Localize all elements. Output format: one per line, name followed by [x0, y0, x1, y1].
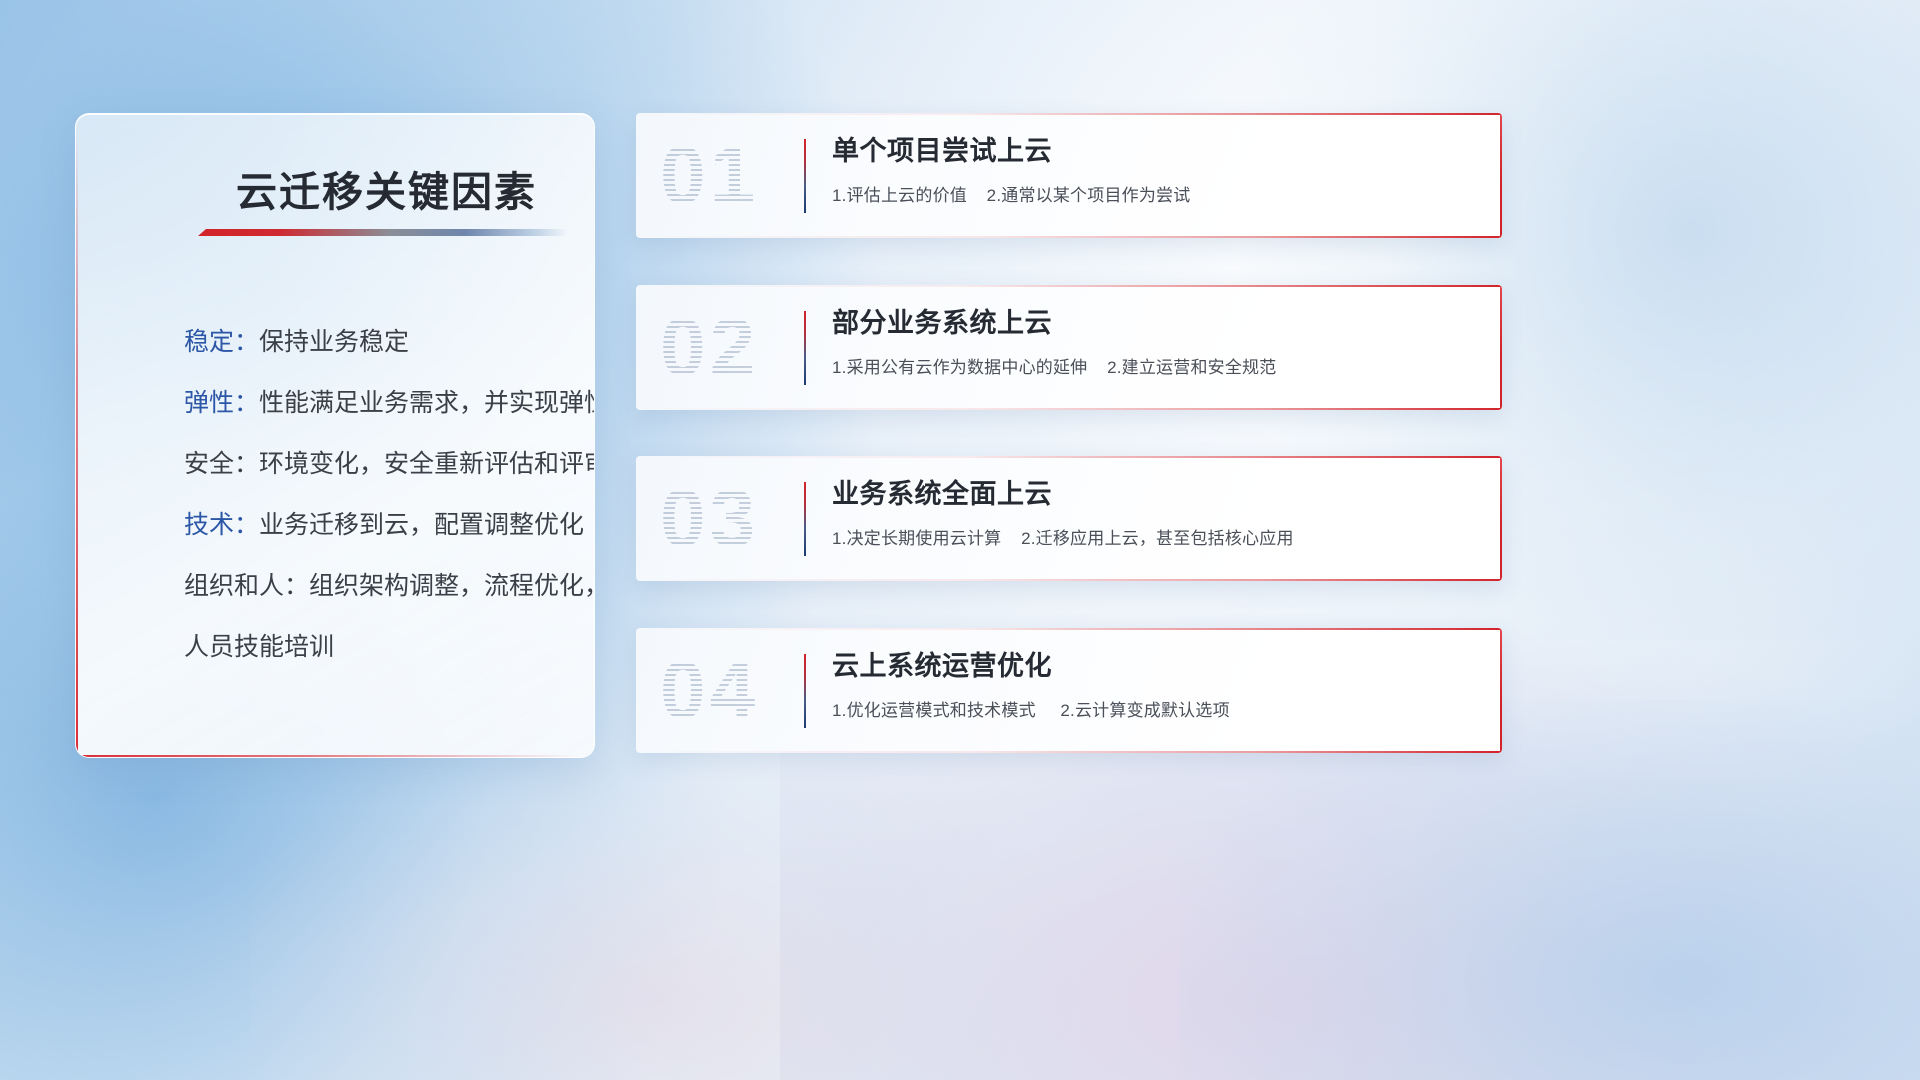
card-bottom-accent-line: [636, 751, 1502, 753]
factor-desc: 性能满足业务需求，并实现弹性: [259, 389, 595, 417]
card-top-accent-line: [636, 456, 1502, 458]
card-bottom-accent-line: [636, 408, 1502, 410]
step-title: 业务系统全面上云: [832, 479, 1478, 510]
factor-desc: 环境变化，安全重新评估和评审: [259, 450, 595, 478]
list-item: 稳定：保持业务稳定: [184, 312, 566, 373]
factor-desc: 人员技能培训: [184, 633, 334, 661]
step-card-04[interactable]: 04 云上系统运营优化 1.优化运营模式和技术模式 2.云计算变成默认选项: [636, 628, 1502, 753]
factor-desc: 业务迁移到云，配置调整优化: [259, 511, 584, 539]
step-content: 部分业务系统上云 1.采用公有云作为数据中心的延伸 2.建立运营和安全规范: [832, 308, 1478, 378]
step-subtitle: 1.采用公有云作为数据中心的延伸 2.建立运营和安全规范: [832, 353, 1478, 378]
background-glow-pink-bottom: [250, 760, 1070, 1080]
factor-label: 稳定：: [184, 328, 259, 356]
list-item: 弹性：性能满足业务需求，并实现弹性: [184, 373, 566, 434]
panel-title: 云迁移关键因素: [236, 158, 537, 218]
card-top-accent-line: [636, 285, 1502, 287]
step-title: 部分业务系统上云: [832, 308, 1478, 339]
list-item: 组织和人：组织架构调整，流程优化，: [184, 556, 566, 617]
step-card-01[interactable]: 01 单个项目尝试上云 1.评估上云的价值 2.通常以某个项目作为尝试: [636, 113, 1502, 238]
step-content: 单个项目尝试上云 1.评估上云的价值 2.通常以某个项目作为尝试: [832, 136, 1478, 206]
step-subtitle: 1.优化运营模式和技术模式 2.云计算变成默认选项: [832, 696, 1478, 721]
step-number-watermark: 04: [660, 644, 759, 738]
factor-desc: 保持业务稳定: [259, 328, 409, 356]
key-factors-panel: 云迁移关键因素 稳定：保持业务稳定 弹性：性能满足业务需求，并实现弹性 安全：环…: [75, 113, 595, 758]
factor-desc: 组织架构调整，流程优化，: [309, 572, 595, 600]
list-item: 技术：业务迁移到云，配置调整优化: [184, 495, 566, 556]
step-content: 云上系统运营优化 1.优化运营模式和技术模式 2.云计算变成默认选项: [832, 651, 1478, 721]
step-subtitle: 1.决定长期使用云计算 2.迁移应用上云，甚至包括核心应用: [832, 524, 1478, 549]
step-number-watermark: 01: [660, 129, 759, 223]
card-bottom-accent-line: [636, 579, 1502, 581]
step-card-02[interactable]: 02 部分业务系统上云 1.采用公有云作为数据中心的延伸 2.建立运营和安全规范: [636, 285, 1502, 410]
step-divider-bar: [804, 311, 806, 385]
background-glow-blue-bottom-right: [1180, 700, 1920, 1080]
factor-label: 技术：: [184, 511, 259, 539]
step-number-watermark: 02: [660, 301, 759, 395]
card-top-accent-line: [636, 113, 1502, 115]
card-top-accent-line: [636, 628, 1502, 630]
list-item: 安全：环境变化，安全重新评估和评审: [184, 434, 566, 495]
step-title: 云上系统运营优化: [832, 651, 1478, 682]
step-content: 业务系统全面上云 1.决定长期使用云计算 2.迁移应用上云，甚至包括核心应用: [832, 479, 1478, 549]
factor-label: 弹性：: [184, 389, 259, 417]
list-item-continuation: 人员技能培训: [184, 617, 566, 678]
factor-label: 安全：: [184, 450, 259, 478]
step-number-watermark: 03: [660, 472, 759, 566]
card-bottom-accent-line: [636, 236, 1502, 238]
key-factors-list: 稳定：保持业务稳定 弹性：性能满足业务需求，并实现弹性 安全：环境变化，安全重新…: [184, 312, 566, 678]
step-divider-bar: [804, 654, 806, 728]
factor-label: 组织和人：: [184, 572, 309, 600]
step-divider-bar: [804, 482, 806, 556]
step-title: 单个项目尝试上云: [832, 136, 1478, 167]
step-subtitle: 1.评估上云的价值 2.通常以某个项目作为尝试: [832, 181, 1478, 206]
step-divider-bar: [804, 139, 806, 213]
title-underline-rule: [198, 229, 568, 236]
step-card-03[interactable]: 03 业务系统全面上云 1.决定长期使用云计算 2.迁移应用上云，甚至包括核心应…: [636, 456, 1502, 581]
